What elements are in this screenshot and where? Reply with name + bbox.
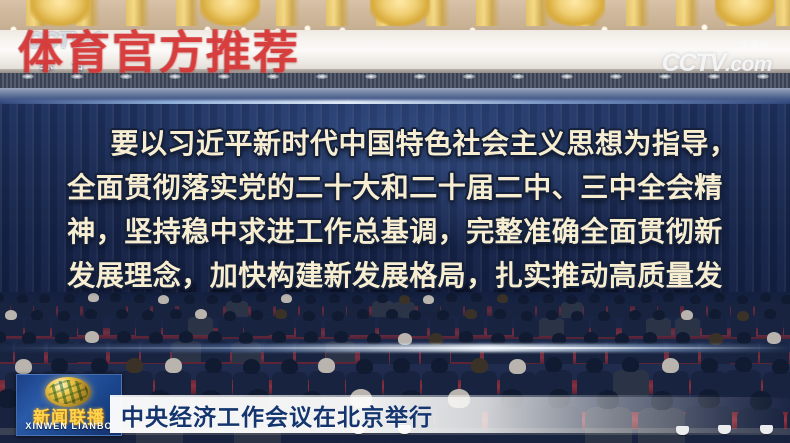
subtitle-line-1: 要以习近平新时代中国特色社会主义思想为指导， (0, 122, 790, 166)
subtitle-line-2: 全面贯彻落实党的二十大和二十届二中、三中全会精 (0, 166, 790, 210)
audience-body (608, 302, 630, 318)
audience-head (735, 357, 752, 372)
audience-head (170, 309, 182, 319)
cctv1-logo-text: CCTV-1 (26, 28, 118, 52)
audience-head (142, 310, 154, 320)
audience-head (709, 309, 721, 319)
audience-head (584, 332, 598, 344)
audience-head (275, 309, 287, 319)
audience-head (334, 331, 348, 343)
audience-head (386, 309, 398, 319)
grille-downlight (120, 74, 132, 79)
grille-downlight (169, 74, 181, 79)
audience-head (51, 358, 68, 373)
audience-head (15, 359, 32, 374)
audience-head (195, 309, 207, 319)
grille-downlight (218, 74, 230, 79)
grille-downlight (414, 74, 426, 79)
audience-body (117, 371, 153, 398)
audience-head (471, 358, 488, 373)
audience-head (681, 310, 693, 320)
light-sweep-lower-core (0, 347, 790, 349)
audience-head (459, 331, 473, 343)
audience-head (357, 309, 369, 319)
audience-head (393, 358, 410, 373)
audience-head (737, 311, 749, 321)
audience-head (494, 309, 506, 319)
audience-head (571, 311, 583, 321)
audience-body (776, 302, 790, 318)
grille-downlight (561, 74, 573, 79)
audience-head (179, 331, 193, 343)
audience-head (224, 311, 236, 321)
audience-head (767, 332, 781, 344)
audience-head (208, 331, 222, 343)
audience-head (431, 358, 448, 373)
audience-head (85, 309, 97, 319)
audience-head (318, 358, 335, 373)
audience-head (465, 309, 477, 319)
audience-head (629, 310, 641, 320)
audience-head (546, 310, 558, 320)
cctv-com-brand-label: CCTV.com (662, 49, 772, 77)
audience-head (116, 309, 128, 319)
audience-head (91, 358, 108, 373)
audience-head (622, 357, 639, 372)
audience-head (205, 358, 222, 373)
audience-head (332, 311, 344, 321)
audience-head (31, 310, 43, 320)
audience-head (643, 332, 657, 344)
audience-body (613, 370, 649, 397)
lower-third-banner: 中央经济工作会议在北京举行 (110, 397, 790, 433)
tv-broadcast-screenshot: CCTV-1 综 合 央视网 CCTV.com 体育官方推荐 要以习近平新时代中… (0, 0, 790, 443)
audience-head (545, 357, 562, 372)
audience-head (243, 359, 260, 374)
audience-head (586, 358, 603, 373)
audience-head (303, 311, 315, 321)
audience-head (272, 331, 286, 343)
audience-head (409, 310, 421, 320)
cctv-com-watermark: 央视网 CCTV.com (662, 38, 772, 78)
subtitle-line-4: 发展理念，加快构建新发展格局，扎实推动高质量发 (0, 254, 790, 298)
audience-head (22, 332, 36, 344)
audience-head (126, 358, 143, 373)
audience-head (85, 331, 99, 343)
xinwen-lianbo-logo: 新闻联播 XINWEN LIANBO (16, 374, 122, 436)
channel-logo-bug: CCTV-1 综 合 (26, 28, 118, 76)
audience-head (117, 331, 131, 343)
audience-head (55, 332, 69, 344)
grille-downlight (512, 74, 524, 79)
audience-head (653, 310, 665, 320)
audience-head (764, 309, 776, 319)
cctv-domain-text: .com (725, 53, 772, 76)
audience-head (356, 359, 373, 374)
audience-head (598, 311, 610, 321)
audience-body (784, 317, 790, 335)
audience-head (165, 358, 182, 373)
audience-head (701, 358, 718, 373)
grille-downlight (610, 74, 622, 79)
audience-head (676, 332, 690, 344)
audience-head (5, 310, 17, 320)
audience-head (149, 332, 163, 344)
subtitle-line-3: 神，坚持稳中求进工作总基调，完整准确全面贯彻新 (0, 210, 790, 254)
subtitle-block: 要以习近平新时代中国特色社会主义思想为指导， 全面贯彻落实党的二十大和二十届二中… (0, 122, 790, 298)
audience-head (251, 310, 263, 320)
audience-body (379, 317, 404, 335)
grille-downlight (316, 74, 328, 79)
audience-head (437, 310, 449, 320)
audience-head (304, 331, 318, 343)
grille-downlight (463, 74, 475, 79)
channel-name-label: 综 合 (26, 54, 118, 73)
lower-third-headline: 中央经济工作会议在北京举行 (110, 398, 433, 432)
cctv-brand-text: CCTV (662, 49, 725, 77)
audience-head (509, 359, 526, 374)
program-logo-en-label: XINWEN LIANBO (17, 421, 121, 431)
audience-head (521, 311, 533, 321)
audience-head (519, 332, 533, 344)
grille-downlight (267, 74, 279, 79)
audience-head (281, 359, 298, 374)
audience-head (239, 332, 253, 344)
audience-head (662, 358, 679, 373)
audience-head (737, 332, 751, 344)
audience-head (772, 359, 789, 374)
grille-downlight (365, 74, 377, 79)
audience-head (58, 311, 70, 321)
